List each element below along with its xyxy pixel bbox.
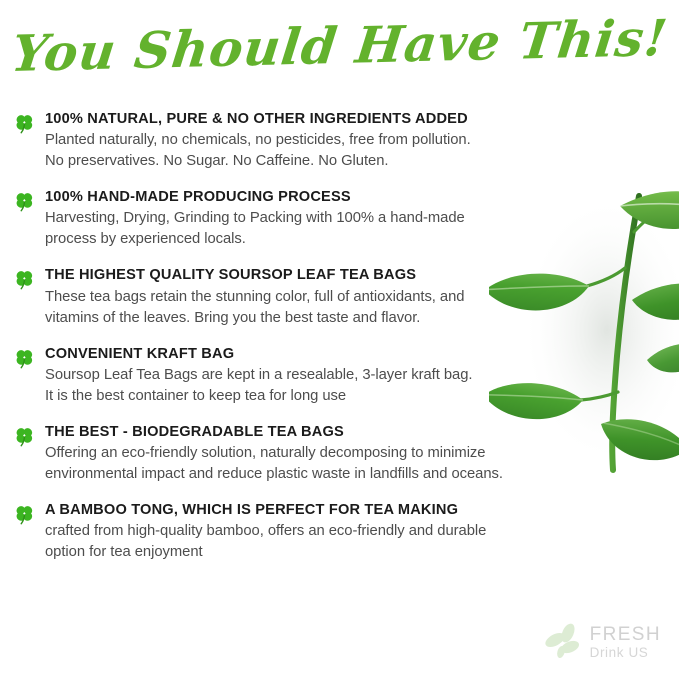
feature-body-line: Harvesting, Drying, Grinding to Packing … (45, 208, 635, 229)
feature-heading: A BAMBOO TONG, WHICH IS PERFECT FOR TEA … (45, 501, 661, 519)
feature-item: 100% HAND-MADE PRODUCING PROCESS Harvest… (0, 188, 679, 250)
feature-body: Harvesting, Drying, Grinding to Packing … (45, 208, 635, 250)
feature-heading: 100% HAND-MADE PRODUCING PROCESS (45, 188, 661, 206)
headline-banner: You Should Have This! (0, 18, 679, 73)
feature-item: A BAMBOO TONG, WHICH IS PERFECT FOR TEA … (0, 501, 679, 563)
feature-body-line: No preservatives. No Sugar. No Caffeine.… (45, 151, 635, 172)
feature-body-line: environmental impact and reduce plastic … (45, 464, 635, 485)
brand-logo-text: FRESH Drink US (590, 625, 661, 660)
brand-tagline: Drink US (590, 646, 661, 660)
four-leaf-clover-icon (13, 503, 36, 526)
feature-heading: THE HIGHEST QUALITY SOURSOP LEAF TEA BAG… (45, 266, 661, 284)
feature-body-line: It is the best container to keep tea for… (45, 386, 635, 407)
four-leaves-logo-icon (542, 621, 584, 663)
feature-body-line: Planted naturally, no chemicals, no pest… (45, 130, 635, 151)
feature-body: Soursop Leaf Tea Bags are kept in a rese… (45, 365, 635, 407)
feature-item: THE HIGHEST QUALITY SOURSOP LEAF TEA BAG… (0, 266, 679, 328)
four-leaf-clover-icon (13, 190, 36, 213)
feature-body-line: process by experienced locals. (45, 229, 635, 250)
feature-item: 100% NATURAL, PURE & NO OTHER INGREDIENT… (0, 110, 679, 172)
feature-heading: 100% NATURAL, PURE & NO OTHER INGREDIENT… (45, 110, 661, 128)
feature-item: CONVENIENT KRAFT BAG Soursop Leaf Tea Ba… (0, 345, 679, 407)
feature-body-line: Soursop Leaf Tea Bags are kept in a rese… (45, 365, 635, 386)
feature-body: crafted from high-quality bamboo, offers… (45, 521, 635, 563)
four-leaf-clover-icon (13, 425, 36, 448)
feature-list: 100% NATURAL, PURE & NO OTHER INGREDIENT… (0, 110, 679, 579)
page-title: You Should Have This! (9, 10, 671, 81)
feature-body-line: option for tea enjoyment (45, 542, 635, 563)
four-leaf-clover-icon (13, 112, 36, 135)
feature-body-line: vitamins of the leaves. Bring you the be… (45, 308, 635, 329)
feature-body: Offering an eco-friendly solution, natur… (45, 443, 635, 485)
brand-logo: FRESH Drink US (542, 621, 661, 663)
feature-body: Planted naturally, no chemicals, no pest… (45, 130, 635, 172)
feature-body-line: crafted from high-quality bamboo, offers… (45, 521, 635, 542)
feature-body: These tea bags retain the stunning color… (45, 287, 635, 329)
feature-heading: CONVENIENT KRAFT BAG (45, 345, 661, 363)
feature-body-line: These tea bags retain the stunning color… (45, 287, 635, 308)
brand-name: FRESH (590, 625, 661, 644)
feature-body-line: Offering an eco-friendly solution, natur… (45, 443, 635, 464)
feature-heading: THE BEST - BIODEGRADABLE TEA BAGS (45, 423, 661, 441)
feature-item: THE BEST - BIODEGRADABLE TEA BAGS Offeri… (0, 423, 679, 485)
four-leaf-clover-icon (13, 347, 36, 370)
product-feature-infographic: You Should Have This! 100% NATURAL, PURE… (0, 0, 679, 679)
four-leaf-clover-icon (13, 268, 36, 291)
